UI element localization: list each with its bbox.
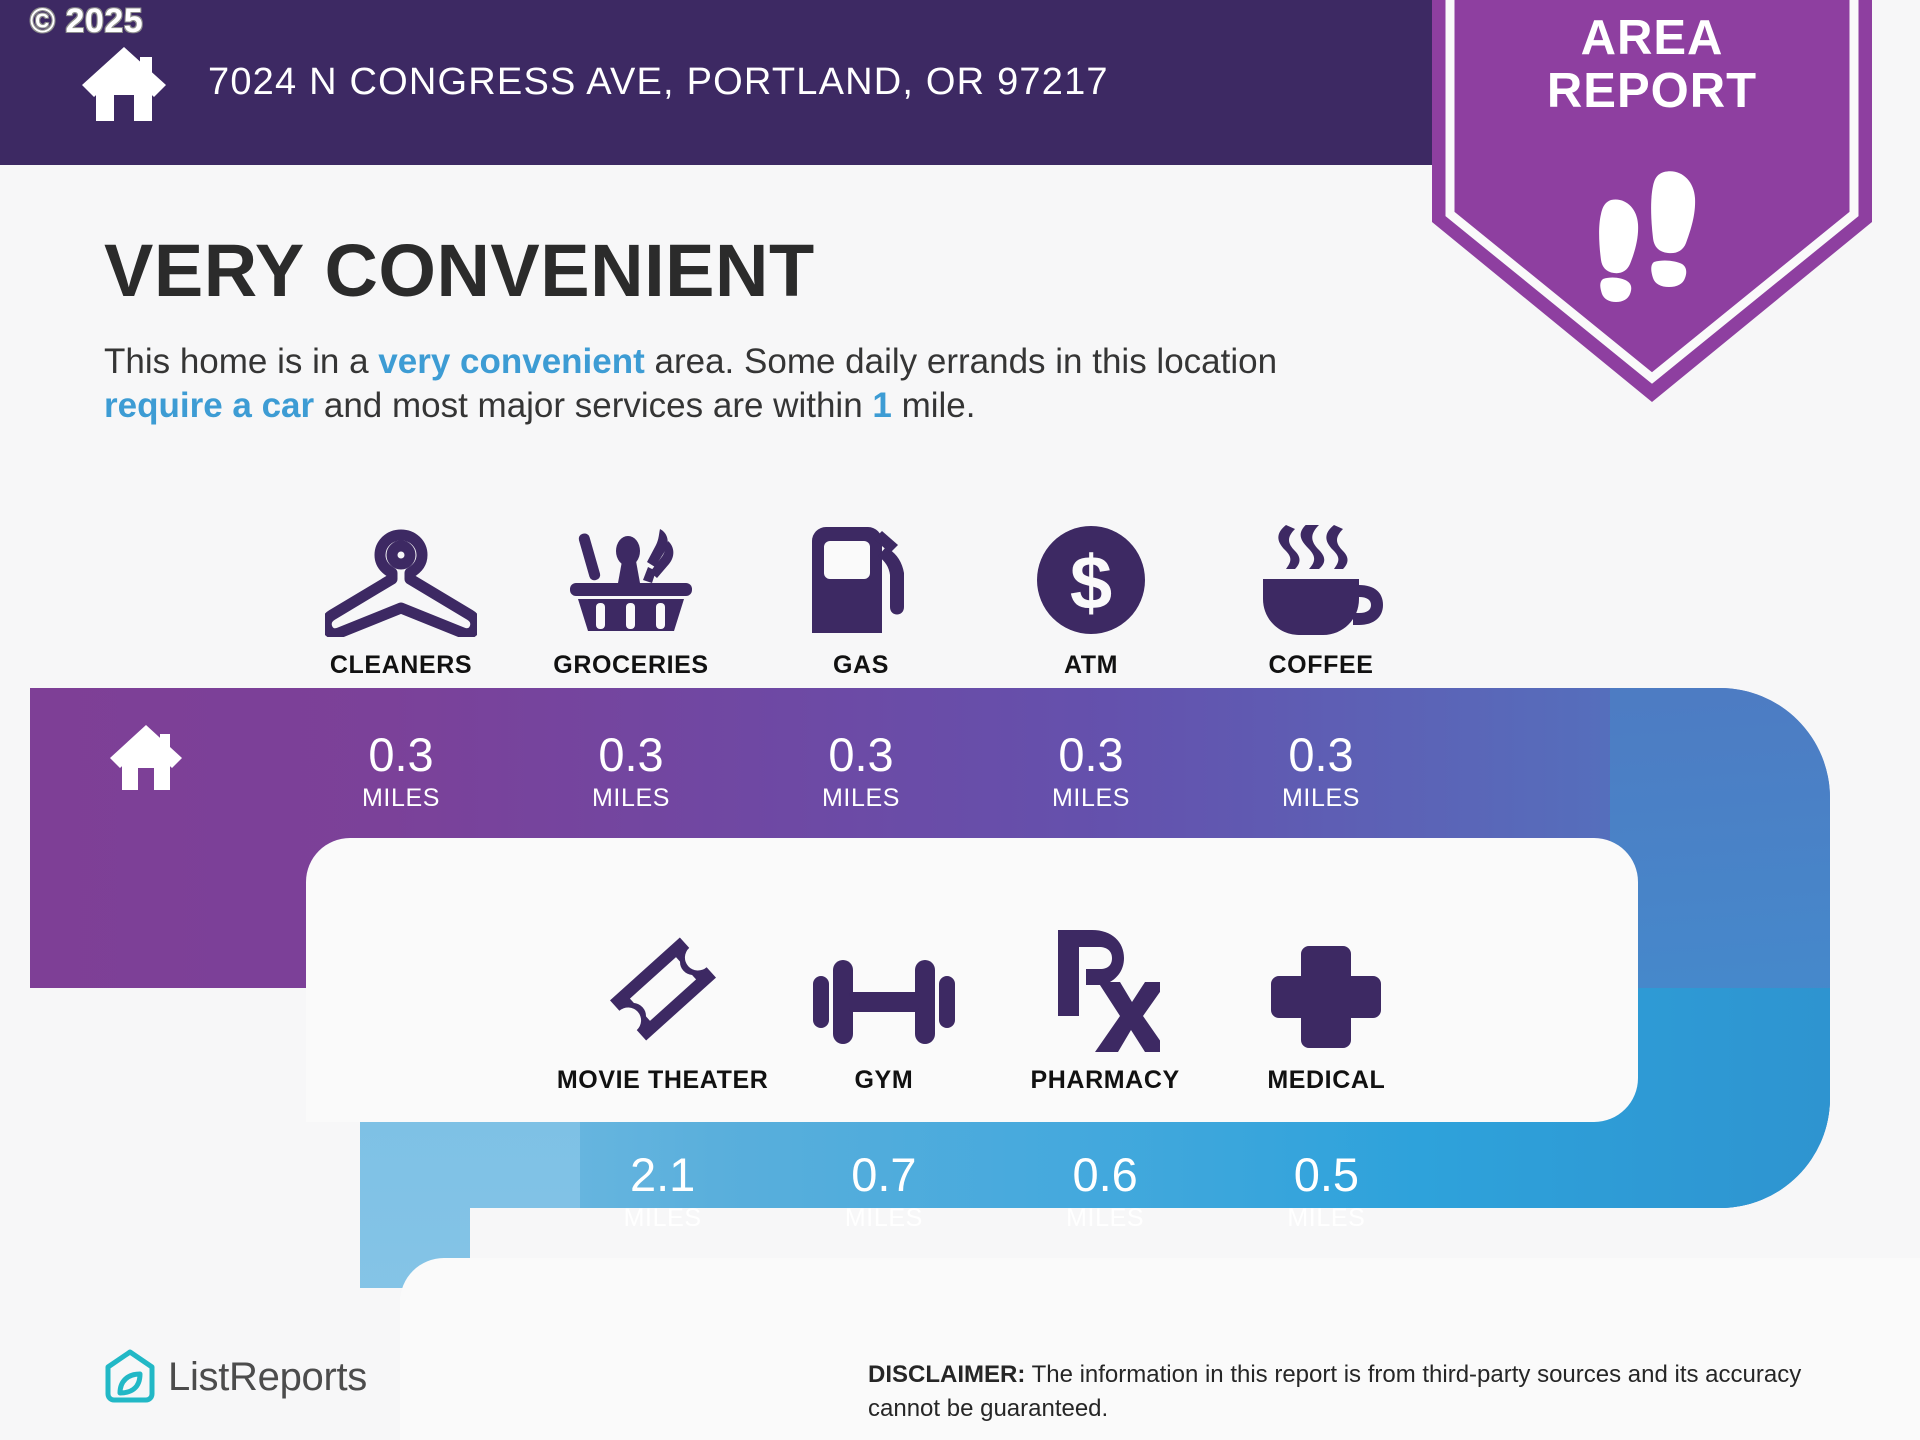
category-label: GYM <box>855 1066 914 1095</box>
desc-part-3: and most major services are within <box>314 386 872 425</box>
distance-value: 0.6 <box>1072 1151 1137 1198</box>
distance-unit: MILES <box>1287 1204 1365 1233</box>
disclaimer-label: DISCLAIMER: <box>868 1361 1025 1388</box>
hanger-icon <box>325 529 477 637</box>
distance-gym: 0.7 MILES <box>773 1122 994 1262</box>
listreports-house-icon <box>104 1348 156 1406</box>
category-gym[interactable]: GYM <box>773 895 994 1095</box>
area-report-page: 7024 N CONGRESS AVE, PORTLAND, OR 97217 … <box>0 0 1920 1440</box>
category-label: GROCERIES <box>553 651 708 680</box>
distance-unit: MILES <box>362 784 440 813</box>
rx-icon <box>1050 926 1160 1052</box>
copyright-label: © 2025 <box>30 2 143 41</box>
area-report-badge: AREA REPORT <box>1432 0 1872 412</box>
listreports-wordmark: ListReports <box>168 1355 367 1400</box>
distance-value: 0.3 <box>828 731 893 778</box>
badge-line-2: REPORT <box>1432 65 1872 118</box>
desc-part-4: mile. <box>892 386 976 425</box>
row2-icon-strip: MOVIE THEATER GYM <box>552 895 1437 1095</box>
distance-unit: MILES <box>822 784 900 813</box>
category-coffee[interactable]: COFFEE <box>1206 500 1436 680</box>
category-label: CLEANERS <box>330 651 472 680</box>
grocery-basket-icon <box>564 525 698 637</box>
distance-medical: 0.5 MILES <box>1216 1122 1437 1262</box>
desc-highlight-2: require a car <box>104 386 314 425</box>
listreports-logo[interactable]: ListReports <box>104 1348 367 1406</box>
distance-value: 2.1 <box>630 1151 695 1198</box>
svg-text:$: $ <box>1070 541 1112 626</box>
row2-distance-values: 2.1 MILES 0.7 MILES 0.6 MILES 0.5 MILES <box>552 1122 1437 1262</box>
category-cleaners[interactable]: CLEANERS <box>286 500 516 680</box>
property-address: 7024 N CONGRESS AVE, PORTLAND, OR 97217 <box>208 61 1109 104</box>
desc-highlight-1: very convenient <box>378 342 645 381</box>
dollar-coin-icon: $ <box>1034 523 1148 637</box>
distance-value: 0.5 <box>1294 1151 1359 1198</box>
distance-unit: MILES <box>1282 784 1360 813</box>
category-label: MOVIE THEATER <box>557 1066 769 1095</box>
coffee-cup-icon <box>1257 525 1385 637</box>
home-origin-icon <box>108 722 184 792</box>
category-label: COFFEE <box>1269 651 1374 680</box>
category-groceries[interactable]: GROCERIES <box>516 500 746 680</box>
category-label: MEDICAL <box>1267 1066 1385 1095</box>
distance-atm: 0.3 MILES <box>976 702 1206 842</box>
category-medical[interactable]: MEDICAL <box>1216 895 1437 1095</box>
distance-unit: MILES <box>624 1204 702 1233</box>
badge-line-1: AREA <box>1432 12 1872 65</box>
distance-unit: MILES <box>845 1204 923 1233</box>
dumbbell-icon <box>809 952 959 1052</box>
gas-pump-icon <box>802 525 920 637</box>
home-icon <box>78 43 170 123</box>
description-text: This home is in a very convenient area. … <box>104 340 1364 429</box>
medical-cross-icon <box>1271 942 1381 1052</box>
distance-groceries: 0.3 MILES <box>516 702 746 842</box>
distance-pharmacy: 0.6 MILES <box>995 1122 1216 1262</box>
category-atm[interactable]: $ ATM <box>976 500 1206 680</box>
category-label: ATM <box>1064 651 1118 680</box>
desc-highlight-3: 1 <box>872 386 891 425</box>
category-pharmacy[interactable]: PHARMACY <box>995 895 1216 1095</box>
distance-unit: MILES <box>592 784 670 813</box>
disclaimer-text: DISCLAIMER: The information in this repo… <box>868 1358 1878 1426</box>
distance-value: 0.3 <box>598 731 663 778</box>
category-movie-theater[interactable]: MOVIE THEATER <box>552 895 773 1095</box>
distance-movie-theater: 2.1 MILES <box>552 1122 773 1262</box>
category-gas[interactable]: GAS <box>746 500 976 680</box>
category-label: PHARMACY <box>1031 1066 1180 1095</box>
distance-unit: MILES <box>1052 784 1130 813</box>
distance-value: 0.3 <box>368 731 433 778</box>
page-title: VERY CONVENIENT <box>104 228 815 313</box>
desc-part-2: area. Some daily errands in this locatio… <box>645 342 1277 381</box>
category-label: GAS <box>833 651 889 680</box>
row1-distance-values: 0.3 MILES 0.3 MILES 0.3 MILES 0.3 MILES … <box>286 702 1436 842</box>
distance-value: 0.7 <box>851 1151 916 1198</box>
row1-icon-strip: CLEANERS <box>286 500 1436 680</box>
distance-value: 0.3 <box>1058 731 1123 778</box>
distance-value: 0.3 <box>1288 731 1353 778</box>
distance-unit: MILES <box>1066 1204 1144 1233</box>
distance-coffee: 0.3 MILES <box>1206 702 1436 842</box>
movie-ticket-icon <box>600 926 726 1052</box>
desc-part-1: This home is in a <box>104 342 378 381</box>
badge-title: AREA REPORT <box>1432 12 1872 118</box>
distance-cleaners: 0.3 MILES <box>286 702 516 842</box>
distance-gas: 0.3 MILES <box>746 702 976 842</box>
